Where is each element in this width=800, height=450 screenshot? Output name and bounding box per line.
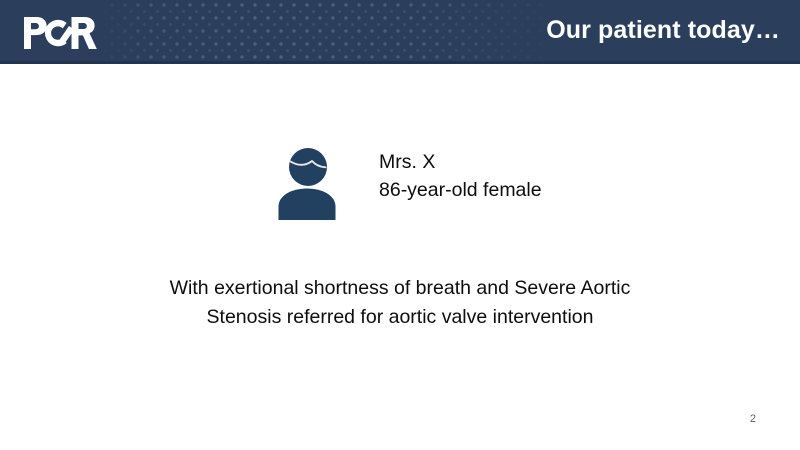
- patient-block: Mrs. X 86-year-old female: [275, 140, 605, 220]
- header-band: Our patient today…: [0, 0, 800, 64]
- slide-canvas: Our patient today… Mrs. X 86-year-old fe…: [0, 0, 800, 450]
- person-avatar-icon: [275, 145, 339, 221]
- patient-name: Mrs. X: [379, 148, 542, 176]
- dot-grid-pattern-icon: [96, 0, 556, 64]
- body-line-1: With exertional shortness of breath and …: [60, 274, 740, 303]
- patient-description: 86-year-old female: [379, 176, 542, 204]
- body-paragraph: With exertional shortness of breath and …: [60, 274, 740, 332]
- header-bottom-edge: [0, 61, 800, 64]
- patient-info: Mrs. X 86-year-old female: [379, 148, 542, 204]
- header-title: Our patient today…: [546, 13, 780, 47]
- pcr-logo-icon[interactable]: [22, 16, 104, 50]
- body-line-2: Stenosis referred for aortic valve inter…: [60, 303, 740, 332]
- page-number: 2: [750, 412, 756, 426]
